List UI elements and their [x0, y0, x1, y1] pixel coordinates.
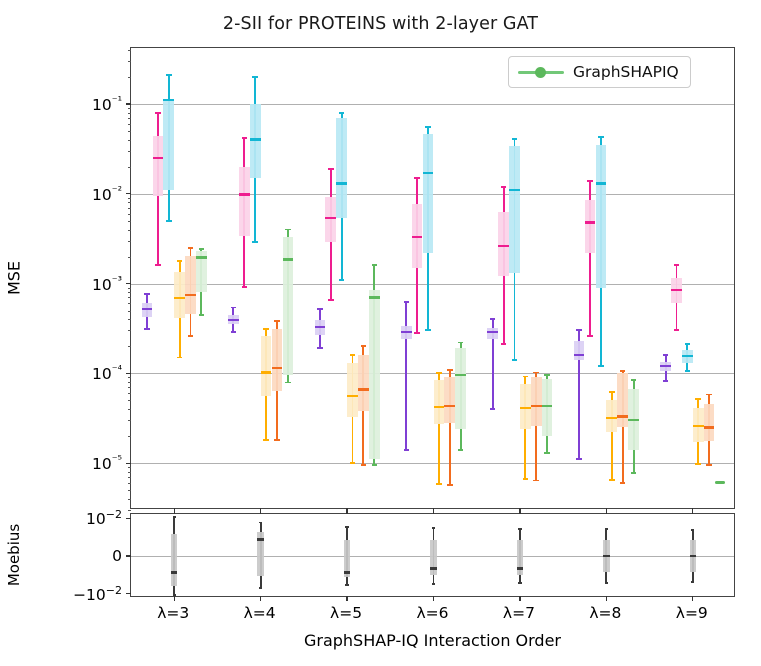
x-tick-label-λ3: λ=3: [157, 604, 189, 622]
legend-marker-graphshapiq: [518, 65, 564, 79]
x-axis-label: GraphSHAP-IQ Interaction Order: [130, 631, 735, 650]
whisker-cap-low: [691, 581, 694, 583]
mse-y-minor-tick: [128, 167, 131, 168]
mse-y-tick: [126, 373, 131, 374]
mse-y-minor-tick: [128, 257, 131, 258]
mse-y-minor-tick: [128, 409, 131, 410]
mse-y-minor-tick: [128, 140, 131, 141]
mse-y-minor-tick: [128, 382, 131, 383]
moebius-y-tick: [126, 593, 131, 594]
mse-y-minor-tick: [128, 230, 131, 231]
x-tick: [692, 596, 693, 601]
mse-y-minor-tick: [128, 510, 131, 511]
moebius-y-tick-label: 10−2: [86, 508, 122, 528]
mse-y-minor-tick: [128, 499, 131, 500]
mse-y-tick-label: 10⁻⁴: [92, 363, 122, 383]
mse-y-minor-tick: [128, 202, 131, 203]
x-tick: [606, 596, 607, 601]
mse-y-minor-tick: [128, 330, 131, 331]
x-tick-label-λ6: λ=6: [416, 604, 448, 622]
mse-y-minor-tick: [128, 108, 131, 109]
median-line: [690, 555, 696, 557]
mse-y-minor-tick: [128, 198, 131, 199]
mse-y-minor-tick: [128, 346, 131, 347]
chart-title: 2-SII for PROTEINS with 2-layer GAT: [0, 14, 761, 34]
mse-y-minor-tick: [128, 311, 131, 312]
mse-y-minor-tick: [128, 377, 131, 378]
x-tick-top: [692, 509, 693, 514]
x-tick: [260, 596, 261, 601]
mse-y-minor-tick: [128, 61, 131, 62]
mse-y-minor-tick: [128, 151, 131, 152]
mse-y-minor-tick: [128, 241, 131, 242]
x-tick-label-λ8: λ=8: [589, 604, 621, 622]
moebius-plot-clip: [131, 514, 734, 596]
mse-y-minor-tick: [128, 77, 131, 78]
mse-y-tick: [126, 193, 131, 194]
mse-y-minor-tick: [128, 467, 131, 468]
mse-plot-clip: [131, 48, 734, 508]
mse-y-minor-tick: [128, 483, 131, 484]
mse-y-minor-tick: [128, 50, 131, 51]
x-tick-top: [174, 509, 175, 514]
mse-y-minor-tick: [128, 124, 131, 125]
mse-y-minor-tick: [128, 477, 131, 478]
moebius-y-tick-label: −10−2: [73, 584, 122, 604]
mse-y-minor-tick: [128, 131, 131, 132]
mse-y-tick-label: 10⁻³: [92, 273, 122, 293]
mse-y-tick-label: 10⁻¹: [92, 94, 122, 114]
x-tick-label-λ4: λ=4: [244, 604, 276, 622]
mse-plot-area: 10⁻¹10⁻²10⁻³10⁻⁴10⁻⁵: [130, 47, 735, 509]
mse-y-minor-tick: [128, 420, 131, 421]
mse-y-tick: [126, 463, 131, 464]
box-green-λ9: [131, 48, 734, 508]
mse-y-minor-tick: [128, 113, 131, 114]
moebius-y-tick: [126, 555, 131, 556]
legend[interactable]: GraphSHAPIQ: [508, 56, 691, 88]
x-tick-label-λ5: λ=5: [330, 604, 362, 622]
mse-y-minor-tick: [128, 319, 131, 320]
x-tick-top: [260, 509, 261, 514]
x-tick: [346, 596, 347, 601]
x-tick: [519, 596, 520, 601]
legend-label-graphshapiq: GraphSHAPIQ: [573, 63, 679, 81]
mse-y-minor-tick: [128, 288, 131, 289]
mse-y-minor-tick: [128, 387, 131, 388]
mse-y-minor-tick: [128, 118, 131, 119]
moebius-y-tick: [126, 518, 131, 519]
moebius-plot-area: 10−20−10−2: [130, 513, 735, 597]
mse-y-minor-tick: [128, 400, 131, 401]
x-tick-top: [606, 509, 607, 514]
chart-figure: 2-SII for PROTEINS with 2-layer GAT MSE …: [0, 0, 761, 666]
mse-y-minor-tick: [128, 436, 131, 437]
mse-y-minor-tick: [128, 490, 131, 491]
x-tick: [433, 596, 434, 601]
y-axis-label-moebius: Moebius: [5, 524, 23, 586]
mse-y-minor-tick: [128, 297, 131, 298]
mse-y-minor-tick: [128, 393, 131, 394]
x-tick-label-λ7: λ=7: [503, 604, 535, 622]
moebius-box-λ9: [131, 514, 734, 596]
mse-y-minor-tick: [128, 303, 131, 304]
mse-y-minor-tick: [128, 221, 131, 222]
x-tick-top: [346, 509, 347, 514]
mse-y-tick: [126, 103, 131, 104]
x-tick-top: [519, 509, 520, 514]
x-tick: [174, 596, 175, 601]
mse-y-tick-label: 10⁻²: [92, 184, 122, 204]
mse-y-minor-tick: [128, 472, 131, 473]
box-degenerate: [715, 481, 726, 484]
mse-y-minor-tick: [128, 208, 131, 209]
whisker-cap-high: [691, 529, 694, 531]
y-axis-label-mse: MSE: [5, 261, 24, 295]
mse-y-tick: [126, 283, 131, 284]
mse-y-minor-tick: [128, 214, 131, 215]
mse-y-minor-tick: [128, 292, 131, 293]
mse-y-tick-label: 10⁻⁵: [92, 453, 122, 473]
moebius-y-tick-label: 0: [112, 547, 122, 565]
x-tick-label-λ9: λ=9: [676, 604, 708, 622]
x-tick-top: [433, 509, 434, 514]
